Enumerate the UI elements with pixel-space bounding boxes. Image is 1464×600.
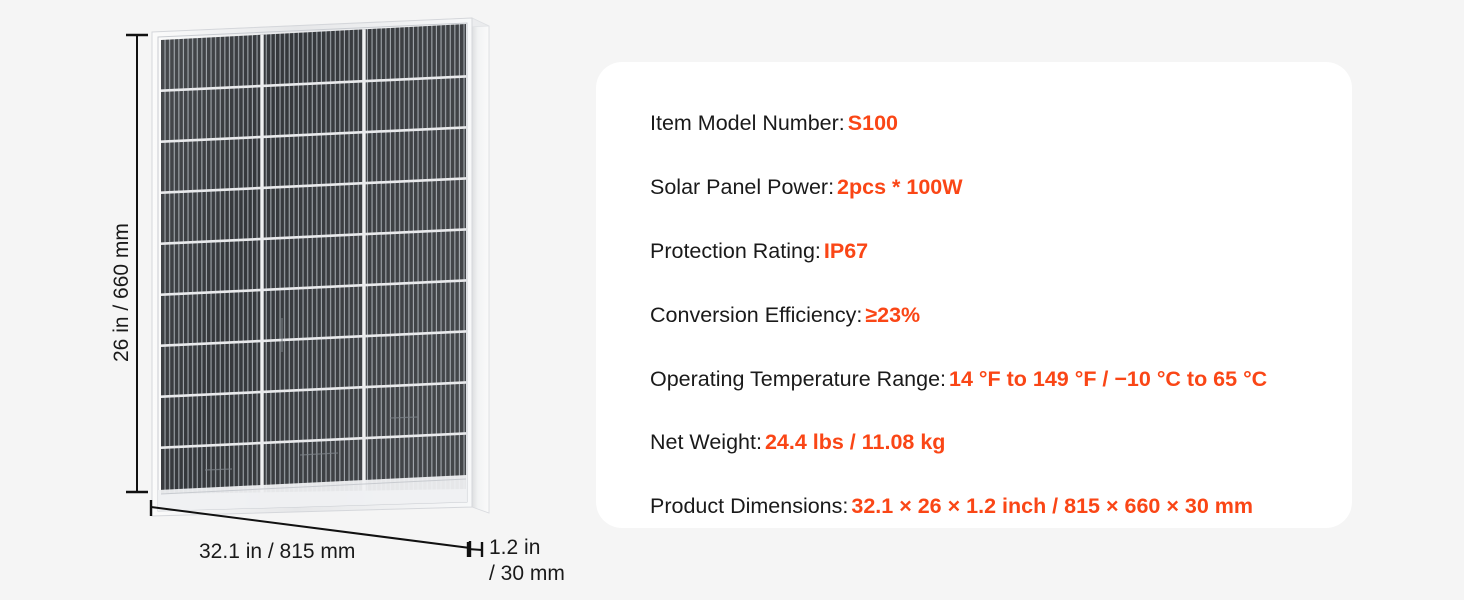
spec-label-product-dimensions: Product Dimensions: (650, 494, 848, 518)
spec-value-protection-rating: IP67 (824, 239, 868, 263)
spec-label-operating-temperature-range: Operating Temperature Range: (650, 367, 946, 391)
spec-label-solar-panel-power: Solar Panel Power: (650, 175, 834, 199)
spec-row-protection-rating: Protection Rating:IP67 (650, 238, 1312, 265)
product-figure: 26 in / 660 mm 32.1 in / 815 mm 1.2 in /… (0, 0, 600, 600)
depth-dimension-label-line1: 1.2 in (489, 536, 540, 559)
spec-label-net-weight: Net Weight: (650, 430, 762, 454)
height-dimension-label: 26 in / 660 mm (110, 223, 133, 362)
spec-row-product-dimensions: Product Dimensions:32.1 × 26 × 1.2 inch … (650, 493, 1312, 520)
specification-list: Item Model Number:S100Solar Panel Power:… (650, 110, 1312, 488)
solar-panel-body (152, 18, 489, 516)
panel-cell-area (155, 18, 475, 503)
spec-row-item-model-number: Item Model Number:S100 (650, 110, 1312, 137)
spec-row-conversion-efficiency: Conversion Efficiency:≥23% (650, 302, 1312, 329)
spec-row-operating-temperature-range: Operating Temperature Range:14 °F to 149… (650, 366, 1312, 393)
depth-dimension-label-line2: / 30 mm (489, 562, 565, 585)
spec-value-net-weight: 24.4 lbs / 11.08 kg (765, 430, 945, 454)
depth-dimension-line (468, 549, 482, 550)
specification-card: Item Model Number:S100Solar Panel Power:… (596, 62, 1352, 528)
spec-label-item-model-number: Item Model Number: (650, 111, 845, 135)
spec-row-solar-panel-power: Solar Panel Power:2pcs * 100W (650, 174, 1312, 201)
spec-value-item-model-number: S100 (848, 111, 898, 135)
spec-value-operating-temperature-range: 14 °F to 149 °F / −10 °C to 65 °C (949, 367, 1267, 391)
spec-value-solar-panel-power: 2pcs * 100W (837, 175, 962, 199)
spec-label-conversion-efficiency: Conversion Efficiency: (650, 303, 862, 327)
panel-side-face (472, 18, 489, 513)
spec-row-net-weight: Net Weight:24.4 lbs / 11.08 kg (650, 429, 1312, 456)
solar-panel-illustration: 26 in / 660 mm 32.1 in / 815 mm 1.2 in /… (0, 0, 600, 600)
spec-value-conversion-efficiency: ≥23% (865, 303, 920, 327)
spec-value-product-dimensions: 32.1 × 26 × 1.2 inch / 815 × 660 × 30 mm (851, 494, 1253, 518)
spec-label-protection-rating: Protection Rating: (650, 239, 821, 263)
width-dimension-label: 32.1 in / 815 mm (199, 540, 355, 563)
